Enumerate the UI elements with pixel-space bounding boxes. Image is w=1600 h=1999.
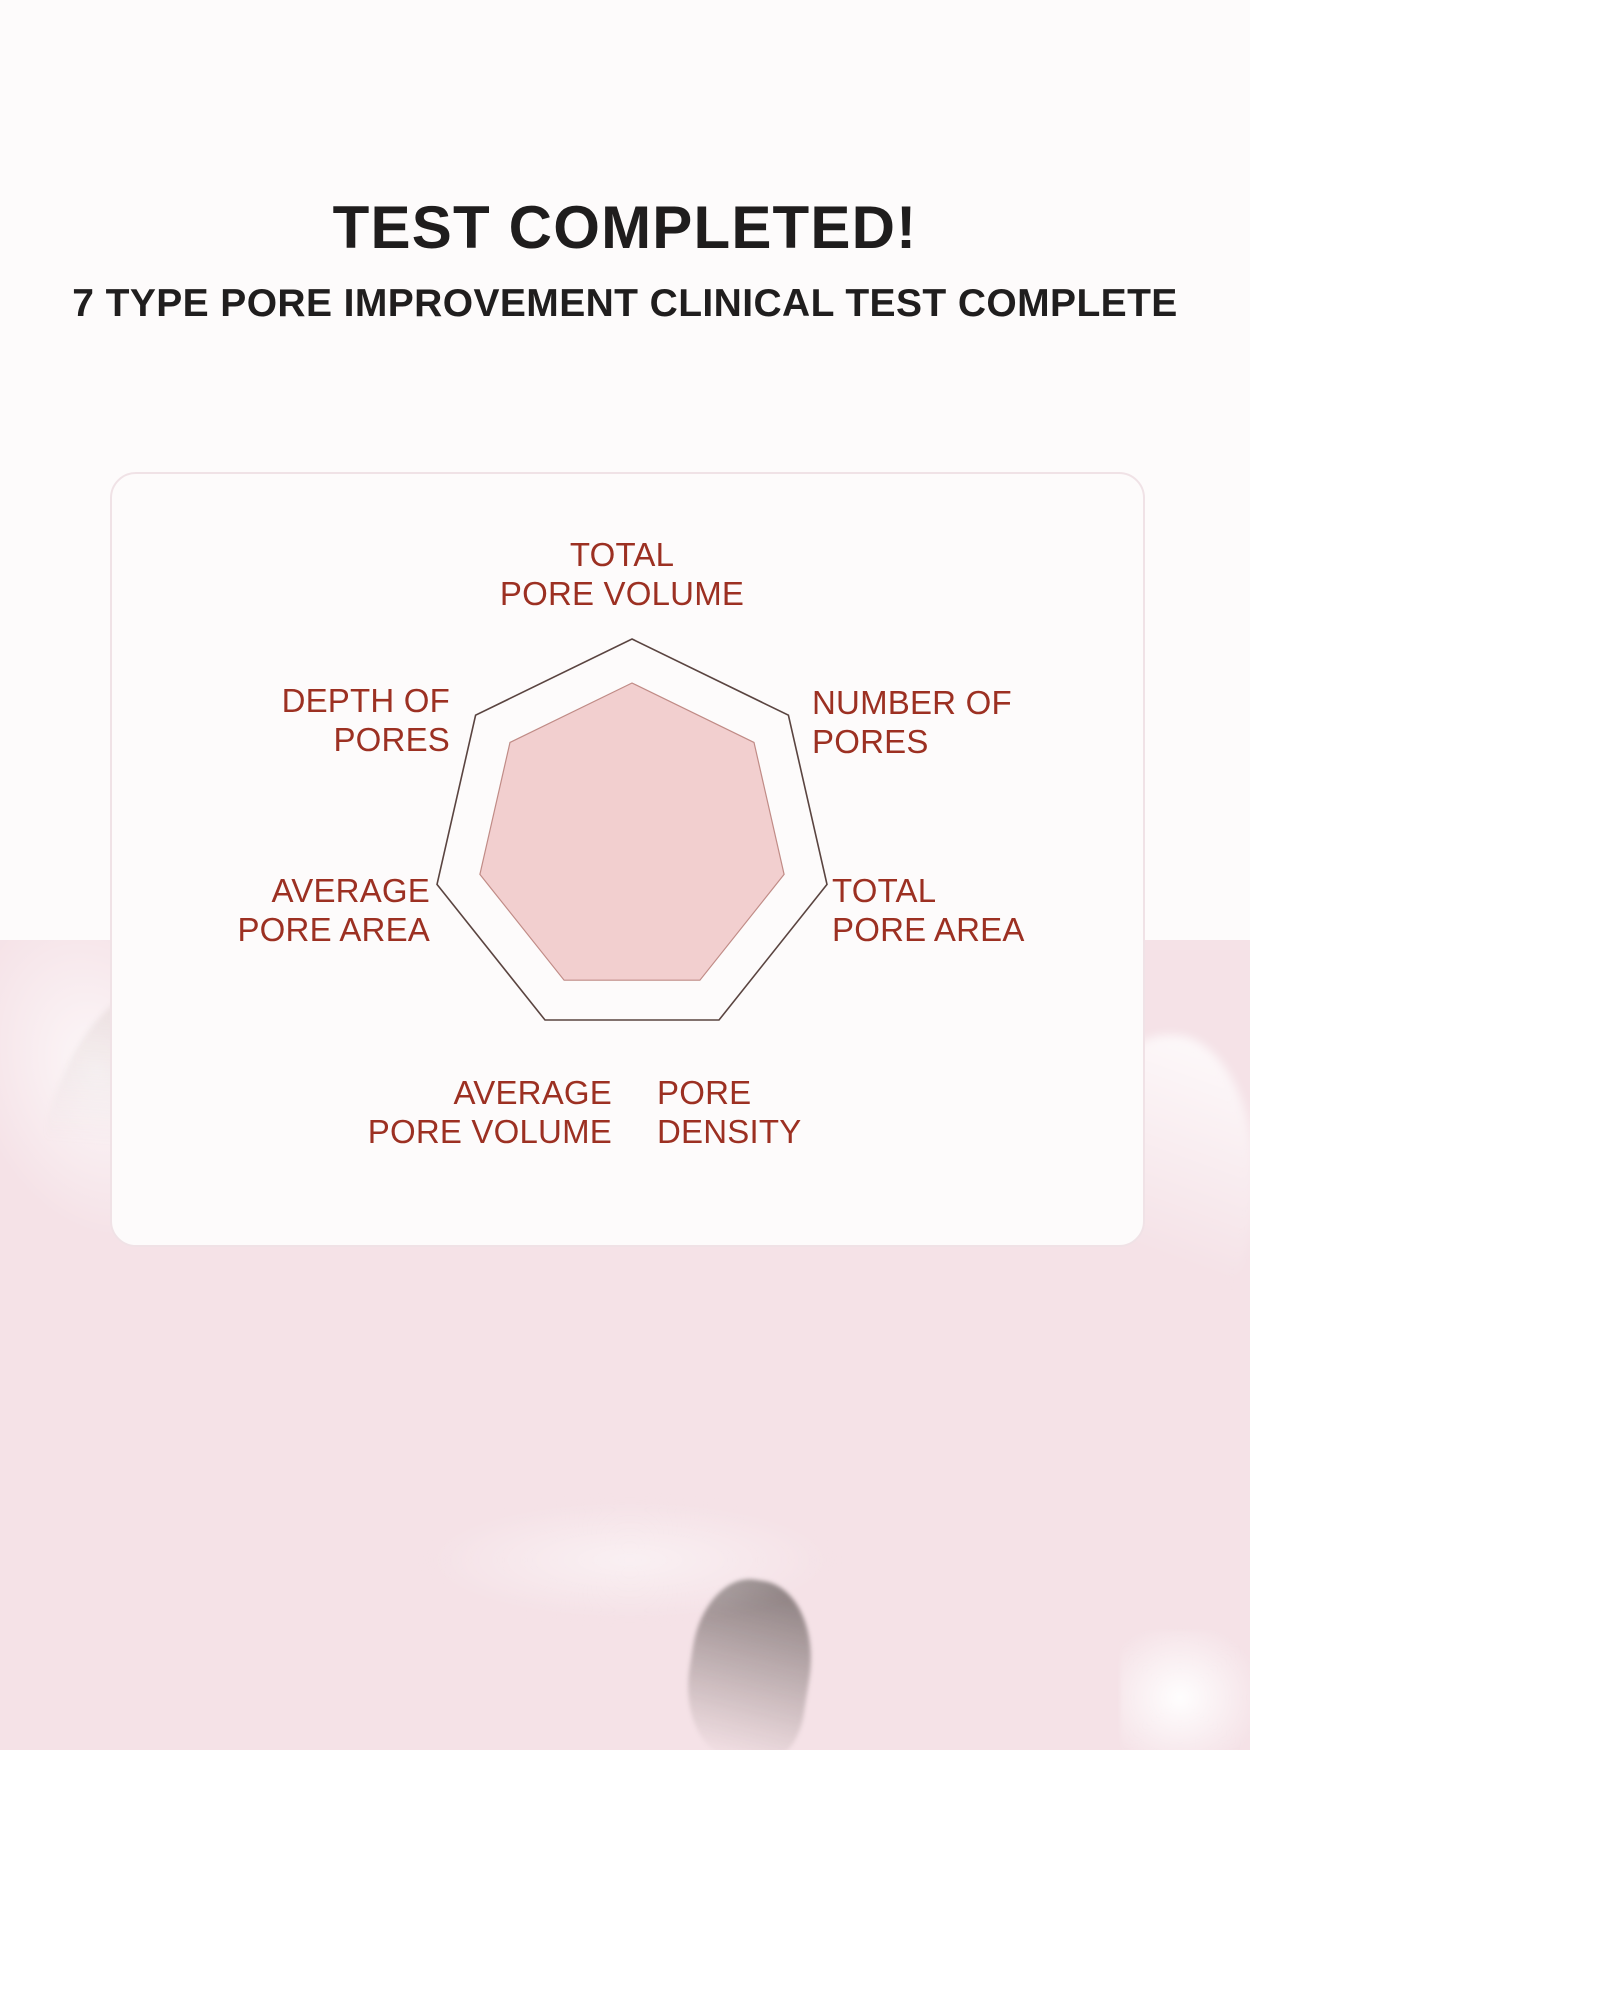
background-bottom-white [0, 1750, 1250, 1999]
radar-data-polygon [480, 683, 784, 980]
background-texture-bead-bottom-right [1120, 1630, 1250, 1750]
radar-chart-svg [422, 629, 842, 1049]
radar-axis-label-depth-of-pores: DEPTH OF PORES [160, 682, 450, 760]
radar-axis-label-number-of-pores: NUMBER OF PORES [812, 684, 1112, 762]
radar-axis-label-pore-density: PORE DENSITY [657, 1074, 897, 1152]
page-title: TEST COMPLETED! [0, 196, 1250, 259]
radar-chart: TOTAL PORE VOLUME NUMBER OF PORES TOTAL … [112, 474, 1147, 1249]
page-subtitle: 7 TYPE PORE IMPROVEMENT CLINICAL TEST CO… [0, 284, 1250, 325]
page-root: TEST COMPLETED! 7 TYPE PORE IMPROVEMENT … [0, 0, 1250, 1999]
chart-card: TOTAL PORE VOLUME NUMBER OF PORES TOTAL … [110, 472, 1145, 1247]
radar-axis-label-average-pore-area: AVERAGE PORE AREA [140, 872, 430, 950]
background-texture-glow-bottom [420, 1500, 840, 1620]
radar-axis-label-total-pore-volume: TOTAL PORE VOLUME [457, 536, 787, 614]
radar-axis-label-average-pore-volume: AVERAGE PORE VOLUME [272, 1074, 612, 1152]
radar-axis-label-total-pore-area: TOTAL PORE AREA [832, 872, 1122, 950]
